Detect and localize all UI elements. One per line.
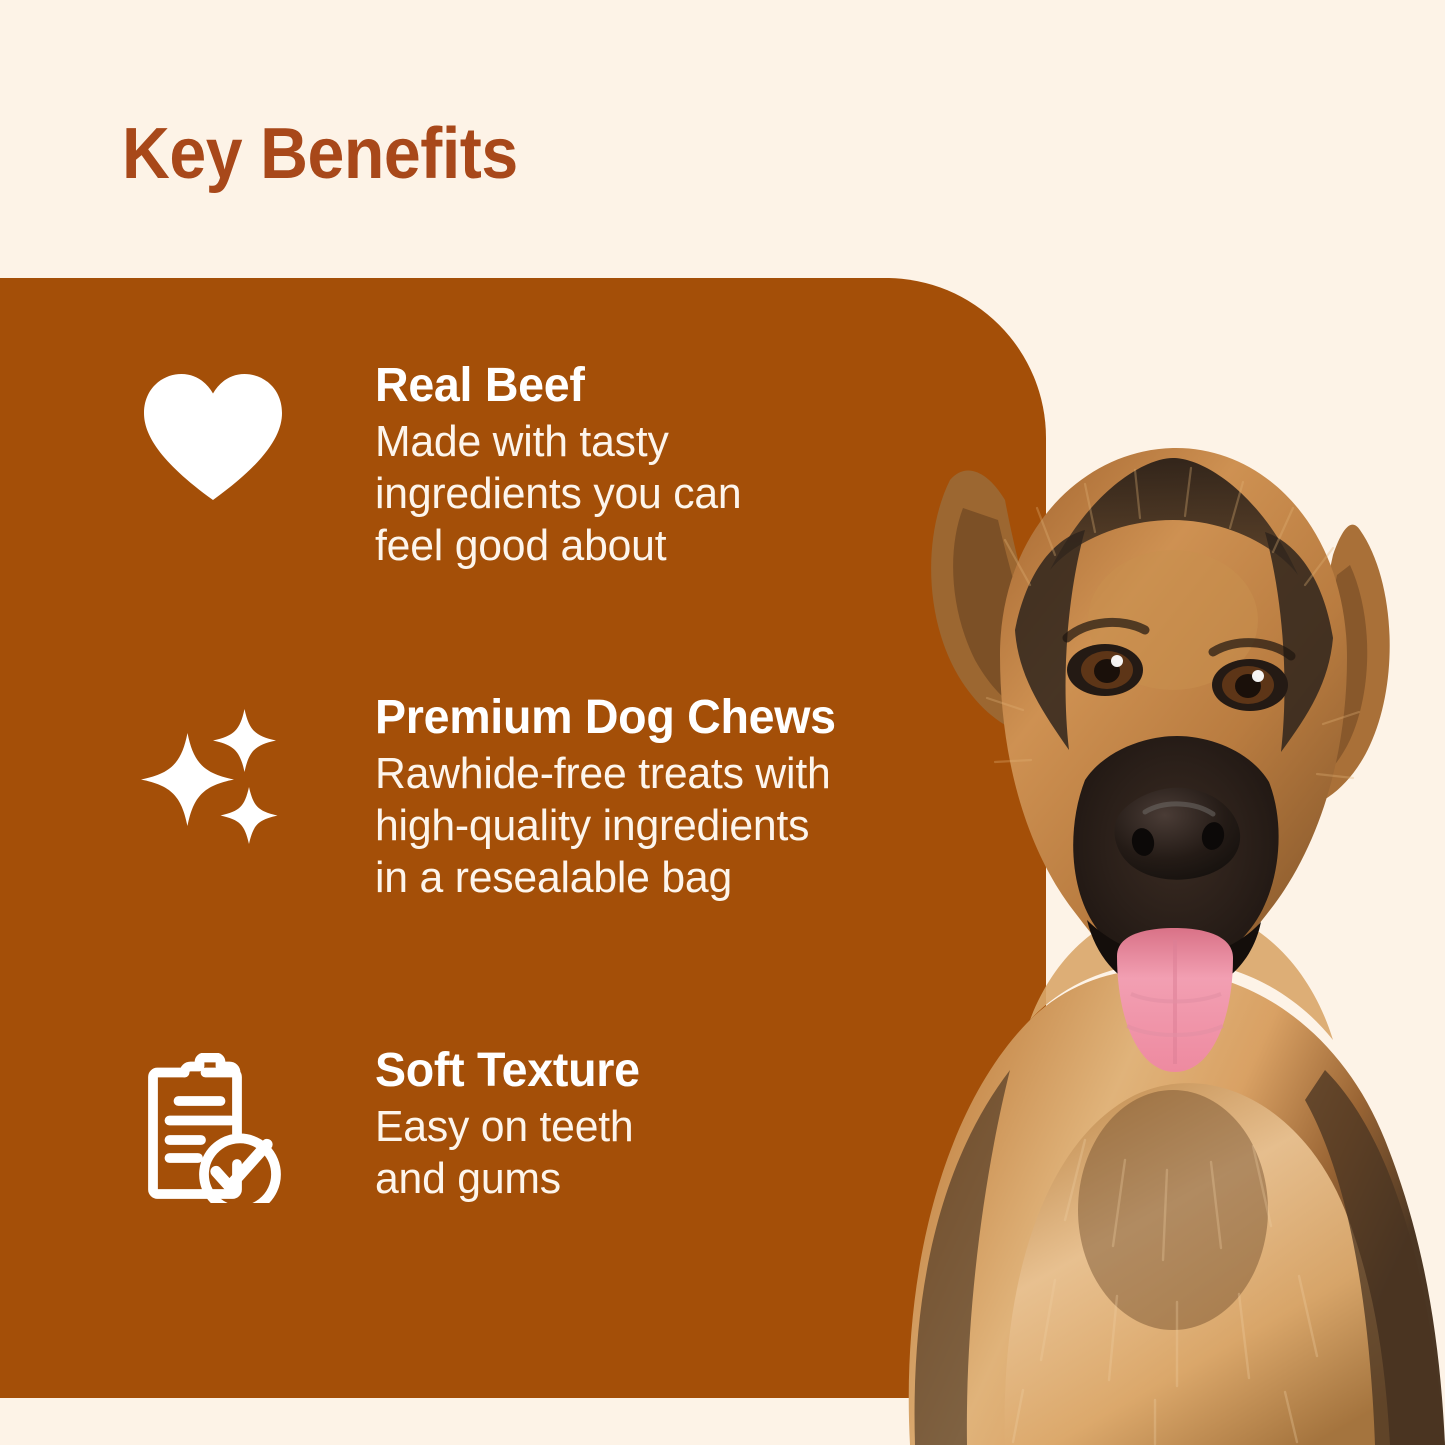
heart-icon — [138, 368, 288, 518]
page-title: Key Benefits — [122, 118, 518, 190]
infographic-canvas: Key Benefits Real Beef Made with tasty i… — [0, 0, 1445, 1445]
clipboard-check-icon — [138, 1053, 288, 1203]
dog-photo — [855, 380, 1445, 1445]
sparkles-icon — [138, 700, 288, 850]
